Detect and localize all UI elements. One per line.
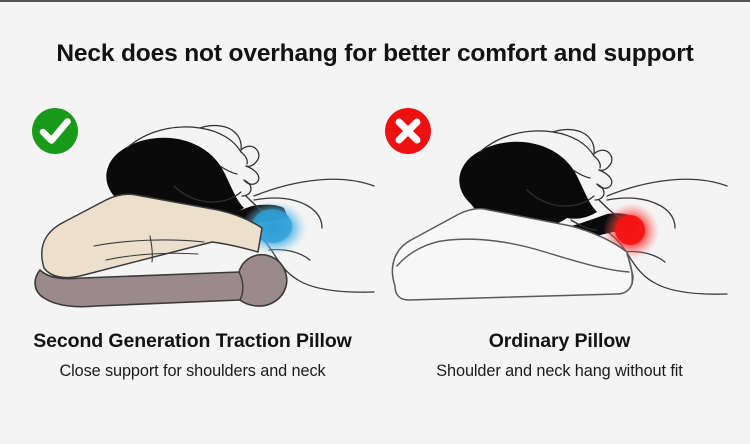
top-divider-rule — [0, 0, 750, 2]
caption-ordinary-pillow: Ordinary Pillow Shoulder and neck hang w… — [372, 330, 747, 381]
caption-sub-traction-pillow: Close support for shoulders and neck — [5, 362, 380, 381]
ordinary-pillow-illustration — [375, 100, 730, 315]
caption-title-traction-pillow: Second Generation Traction Pillow — [5, 330, 380, 353]
caption-sub-ordinary-pillow: Shoulder and neck hang without fit — [372, 362, 747, 381]
page-title: Neck does not overhang for better comfor… — [0, 40, 750, 68]
traction-pillow-illustration — [22, 100, 377, 315]
comparison-infographic: Neck does not overhang for better comfor… — [0, 0, 750, 444]
check-circle-icon — [32, 108, 78, 154]
caption-title-ordinary-pillow: Ordinary Pillow — [372, 330, 747, 353]
caption-traction-pillow: Second Generation Traction Pillow Close … — [5, 330, 380, 381]
panel-ordinary-pillow — [375, 100, 730, 315]
panel-traction-pillow — [22, 100, 377, 315]
x-circle-icon — [385, 108, 431, 154]
